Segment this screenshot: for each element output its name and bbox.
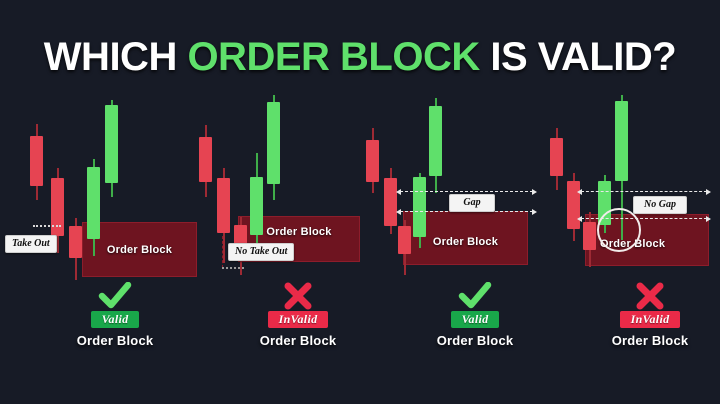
cross-mark-icon <box>208 282 388 310</box>
check-mark-icon <box>385 282 565 310</box>
verdict-4: InValid Order Block <box>560 282 720 348</box>
panel-3: Order Block Gap <box>360 95 535 295</box>
verdict-badge-valid: Valid <box>91 311 140 328</box>
title-part-2: IS VALID? <box>480 35 676 79</box>
candle-1-5 <box>105 100 118 197</box>
note-tag-no-take-out: No Take Out <box>228 243 294 261</box>
candle-body <box>398 226 411 254</box>
candle-body <box>250 177 263 235</box>
candle-body <box>87 167 100 239</box>
candle-body <box>51 178 64 236</box>
panel-4: Order Block No Gap <box>535 95 720 295</box>
candle-body <box>384 178 397 226</box>
verdict-badge-invalid: InValid <box>620 311 681 328</box>
verdict-subtitle: Order Block <box>560 333 720 348</box>
candle-2-4 <box>250 153 263 251</box>
verdict-subtitle: Order Block <box>208 333 388 348</box>
no-gap-upper-line-4 <box>581 191 707 192</box>
candle-4-1 <box>550 128 563 190</box>
panel-1: Order Block Take Out <box>0 95 180 295</box>
verdict-subtitle: Order Block <box>25 333 205 348</box>
panel-2: Order Block No Take Out <box>180 95 360 295</box>
candle-3-2 <box>384 168 397 234</box>
note-tag-no-gap: No Gap <box>633 196 687 214</box>
verdict-2: InValid Order Block <box>208 282 388 348</box>
note-tag-take-out: Take Out <box>5 235 57 253</box>
candle-3-5 <box>429 98 442 193</box>
candle-body <box>583 222 596 250</box>
overlap-highlight-circle <box>597 208 641 252</box>
candle-1-3 <box>69 218 82 280</box>
candle-2-5 <box>267 95 280 200</box>
candle-body <box>429 106 442 176</box>
infographic-stage: WHICH ORDER BLOCK IS VALID? Order Block <box>0 0 720 404</box>
candle-1-1 <box>30 124 43 200</box>
candle-4-2 <box>567 173 580 241</box>
verdict-subtitle: Order Block <box>385 333 565 348</box>
candle-body <box>366 140 379 182</box>
verdict-3: Valid Order Block <box>385 282 565 348</box>
verdict-badge-invalid: InValid <box>268 311 329 328</box>
candle-3-1 <box>366 128 379 193</box>
no-takeout-connector-2 <box>222 236 223 268</box>
check-mark-icon <box>25 282 205 310</box>
cross-mark-icon <box>560 282 720 310</box>
note-tag-gap: Gap <box>449 194 495 212</box>
candle-1-4 <box>87 159 100 256</box>
candle-2-1 <box>199 125 212 197</box>
title-highlight: ORDER BLOCK <box>187 35 479 79</box>
candle-body <box>413 177 426 237</box>
gap-upper-line-3 <box>400 191 533 192</box>
candle-4-3 <box>583 212 596 267</box>
candle-body <box>199 137 212 182</box>
candle-body <box>69 226 82 258</box>
candle-body <box>615 101 628 181</box>
page-title: WHICH ORDER BLOCK IS VALID? <box>0 34 720 80</box>
no-takeout-level-line-2 <box>222 267 244 269</box>
candle-body <box>30 136 43 186</box>
verdict-1: Valid Order Block <box>25 282 205 348</box>
verdict-badge-valid: Valid <box>451 311 500 328</box>
candle-body <box>105 105 118 183</box>
candle-body <box>550 138 563 176</box>
takeout-level-line-1 <box>33 225 61 227</box>
title-part-1: WHICH <box>44 35 188 79</box>
candle-body <box>267 102 280 184</box>
candle-3-3 <box>398 220 411 275</box>
candle-body <box>217 178 230 233</box>
